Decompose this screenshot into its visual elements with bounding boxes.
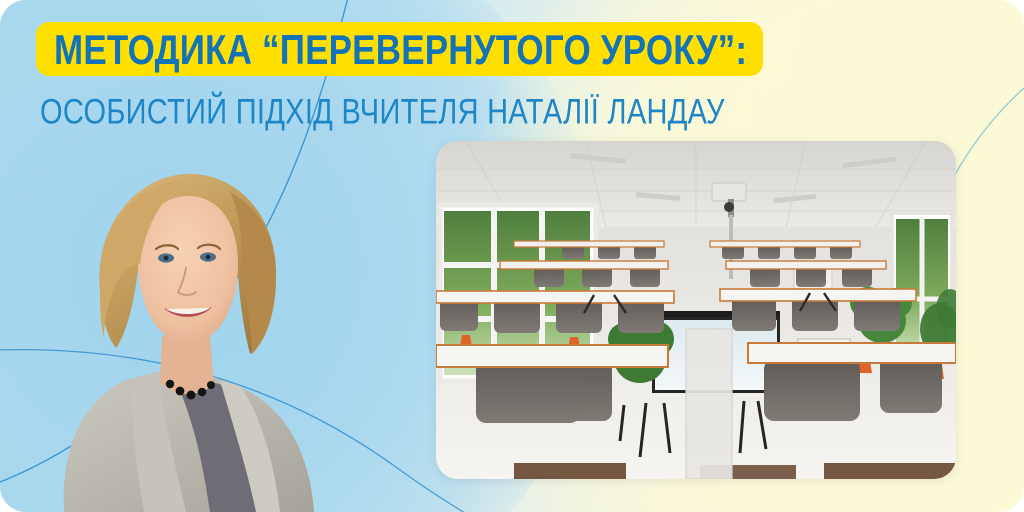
ceiling-duct: [686, 329, 732, 479]
classroom-photo: [436, 141, 956, 479]
promo-banner-canvas: МЕТОДИКА “ПЕРЕВЕРНУТОГО УРОКУ”: ОСОБИСТИ…: [0, 0, 1024, 512]
headline-subtitle: ОСОБИСТИЙ ПІДХІД ВЧИТЕЛЯ НАТАЛІЇ ЛАНДАУ: [40, 96, 725, 131]
headline-band: МЕТОДИКА “ПЕРЕВЕРНУТОГО УРОКУ”:: [36, 22, 763, 76]
headline-title: МЕТОДИКА “ПЕРЕВЕРНУТОГО УРОКУ”:: [54, 30, 747, 71]
speaker-portrait: [34, 158, 334, 512]
